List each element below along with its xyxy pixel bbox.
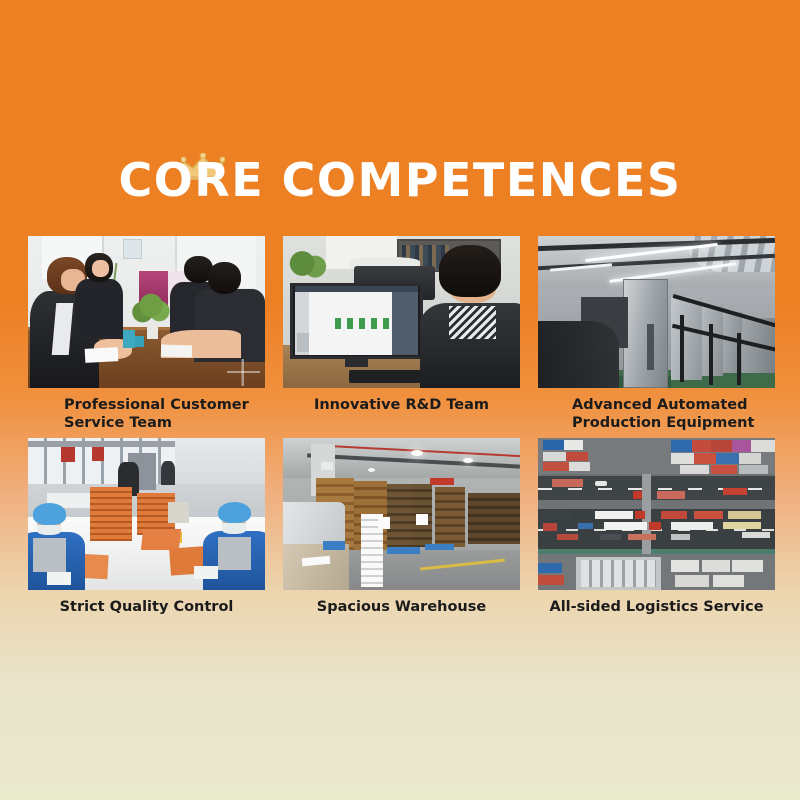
card-caption: All-sided Logistics Service bbox=[538, 598, 775, 616]
core-competences-banner: CORE COMPETENCES bbox=[0, 0, 800, 800]
workers-inspecting-boxes-photo bbox=[28, 438, 265, 590]
warehouse-pallets-photo bbox=[283, 438, 520, 590]
competence-card-professional-customer-service-team[interactable]: Professional Customer Service Team bbox=[28, 236, 265, 432]
card-caption: Professional Customer Service Team bbox=[28, 396, 265, 432]
title-block: CORE COMPETENCES bbox=[0, 152, 800, 208]
aerial-port-logistics-photo bbox=[538, 438, 775, 590]
competence-card-spacious-warehouse[interactable]: Spacious Warehouse bbox=[283, 438, 520, 616]
competences-grid: Professional Customer Service Team bbox=[28, 236, 772, 616]
competence-card-strict-quality-control[interactable]: Strict Quality Control bbox=[28, 438, 265, 616]
card-caption: Innovative R&D Team bbox=[283, 396, 520, 414]
meeting-room-photo bbox=[28, 236, 265, 388]
competence-card-innovative-rd-team[interactable]: Innovative R&D Team bbox=[283, 236, 520, 432]
card-caption: Advanced Automated Production Equipment bbox=[538, 396, 775, 432]
designer-at-computer-photo bbox=[283, 236, 520, 388]
competence-card-all-sided-logistics-service[interactable]: All-sided Logistics Service bbox=[538, 438, 775, 616]
card-caption: Spacious Warehouse bbox=[283, 598, 520, 616]
printing-press-factory-photo bbox=[538, 236, 775, 388]
card-caption: Strict Quality Control bbox=[28, 598, 265, 616]
competence-card-advanced-automated-production-equipment[interactable]: Advanced Automated Production Equipment bbox=[538, 236, 775, 432]
page-title: CORE COMPETENCES bbox=[118, 152, 681, 208]
